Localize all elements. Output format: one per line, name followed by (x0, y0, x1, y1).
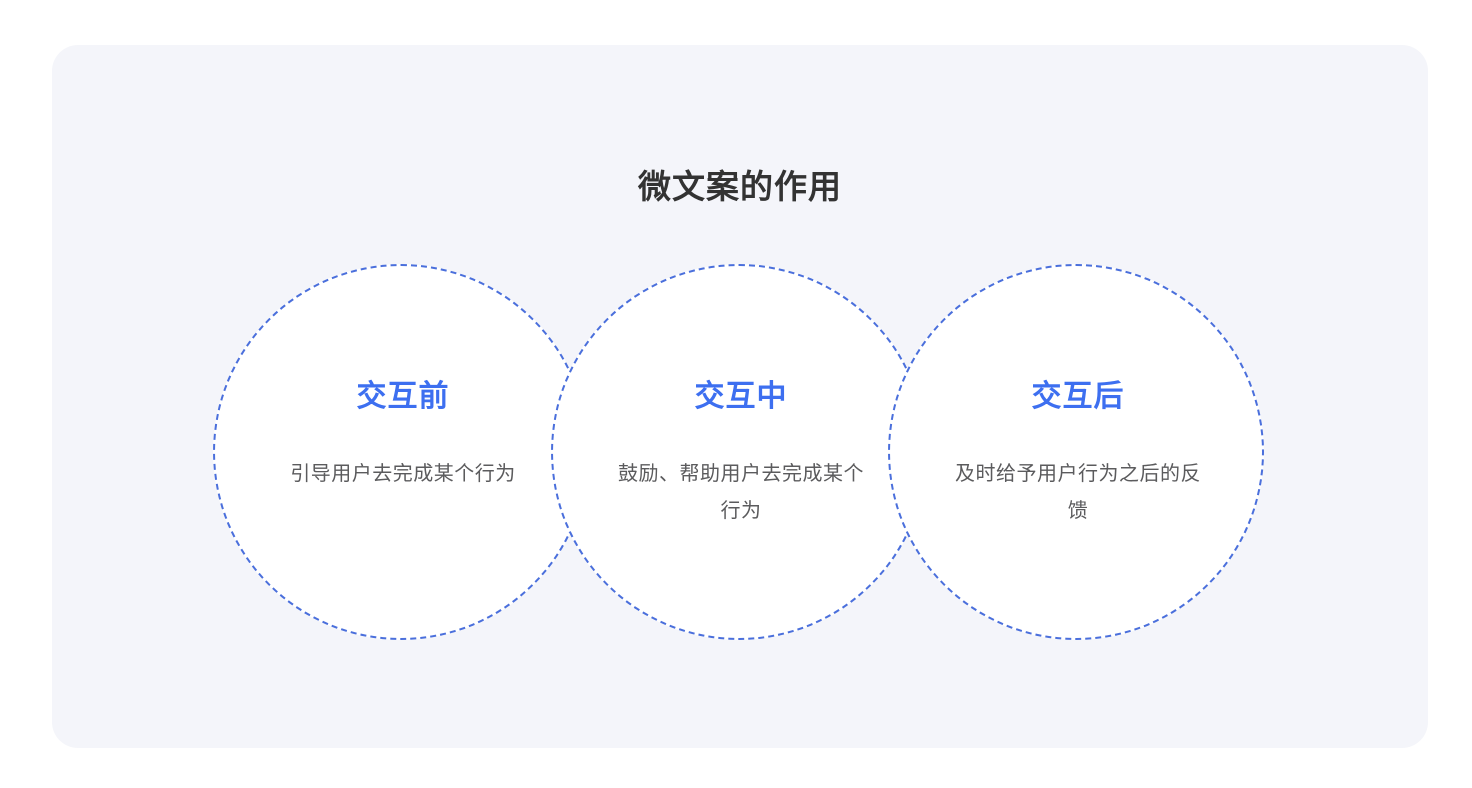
venn-circle-before-heading: 交互前 (357, 378, 450, 416)
venn-circle-after-content: 交互后 及时给予用户行为之后的反馈 (890, 266, 1266, 642)
venn-diagram: 交互前 引导用户去完成某个行为 交互中 鼓励、帮助用户去完成某个行为 交互后 及… (52, 45, 1428, 748)
venn-circle-during: 交互中 鼓励、帮助用户去完成某个行为 (551, 264, 927, 640)
venn-circle-after-description: 及时给予用户行为之后的反馈 (953, 456, 1203, 530)
venn-circle-before-content: 交互前 引导用户去完成某个行为 (215, 266, 591, 642)
venn-circle-during-description: 鼓励、帮助用户去完成某个行为 (616, 456, 866, 530)
venn-circle-after-heading: 交互后 (1032, 378, 1125, 416)
venn-circle-during-content: 交互中 鼓励、帮助用户去完成某个行为 (553, 266, 929, 642)
venn-circle-before-description: 引导用户去完成某个行为 (278, 456, 528, 493)
content-card: 微文案的作用 交互前 引导用户去完成某个行为 交互中 鼓励、帮助用户去完成某个行… (52, 45, 1428, 748)
venn-circle-after: 交互后 及时给予用户行为之后的反馈 (888, 264, 1264, 640)
screenshot-root: 微文案的作用 交互前 引导用户去完成某个行为 交互中 鼓励、帮助用户去完成某个行… (0, 0, 1472, 788)
venn-circle-during-heading: 交互中 (695, 378, 788, 416)
venn-circle-before: 交互前 引导用户去完成某个行为 (213, 264, 589, 640)
